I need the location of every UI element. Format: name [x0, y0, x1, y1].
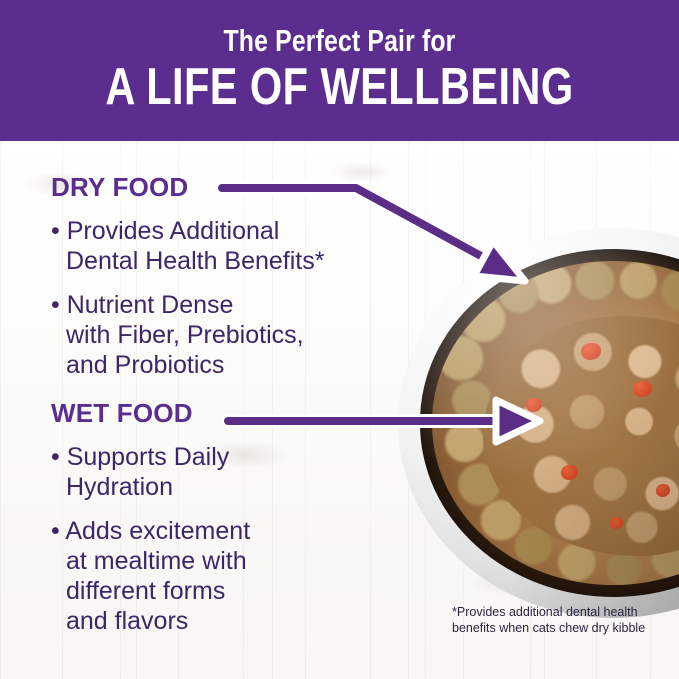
bullet-line: • Adds excitement [51, 517, 250, 545]
bullet-line: and Probiotics [66, 351, 224, 379]
bullet-line: different forms [66, 577, 225, 605]
bullet-line: with Fiber, Prebiotics, [66, 321, 304, 349]
footnote-line-2: benefits when cats chew dry kibble [452, 620, 677, 636]
bullet-line: • Supports Daily [51, 443, 229, 471]
bullet-line: • Nutrient Dense [51, 291, 233, 319]
copy-column: DRY FOOD • Provides Additional Dental He… [51, 172, 381, 650]
section-heading-dry-food: DRY FOOD [51, 172, 381, 202]
list-item: • Adds excitement at mealtime with diffe… [51, 516, 381, 636]
list-item: • Supports Daily Hydration [51, 442, 381, 502]
bowl-food [432, 261, 679, 585]
list-item: • Nutrient Dense with Fiber, Prebiotics,… [51, 290, 381, 380]
header-subtitle: The Perfect Pair for [68, 23, 611, 59]
bullet-line: • Provides Additional [51, 217, 279, 245]
dry-food-bullet-list: • Provides Additional Dental Health Bene… [51, 216, 381, 380]
bullet-line: Hydration [66, 473, 173, 501]
infographic-page: The Perfect Pair for A LIFE OF WELLBEING… [0, 0, 679, 679]
list-item: • Provides Additional Dental Health Bene… [51, 216, 381, 276]
cat-food-bowl-image [398, 228, 679, 618]
header-title: A LIFE OF WELLBEING [68, 58, 611, 116]
bullet-line: at mealtime with [66, 547, 247, 575]
header-band: The Perfect Pair for A LIFE OF WELLBEING [0, 0, 679, 141]
bullet-line: and flavors [66, 607, 188, 635]
bullet-line: Dental Health Benefits* [66, 247, 324, 275]
footnote: *Provides additional dental health benef… [452, 604, 677, 636]
footnote-line-1: *Provides additional dental health [452, 604, 677, 620]
wet-food-bullet-list: • Supports Daily Hydration • Adds excite… [51, 442, 381, 636]
section-heading-wet-food: WET FOOD [51, 398, 381, 428]
